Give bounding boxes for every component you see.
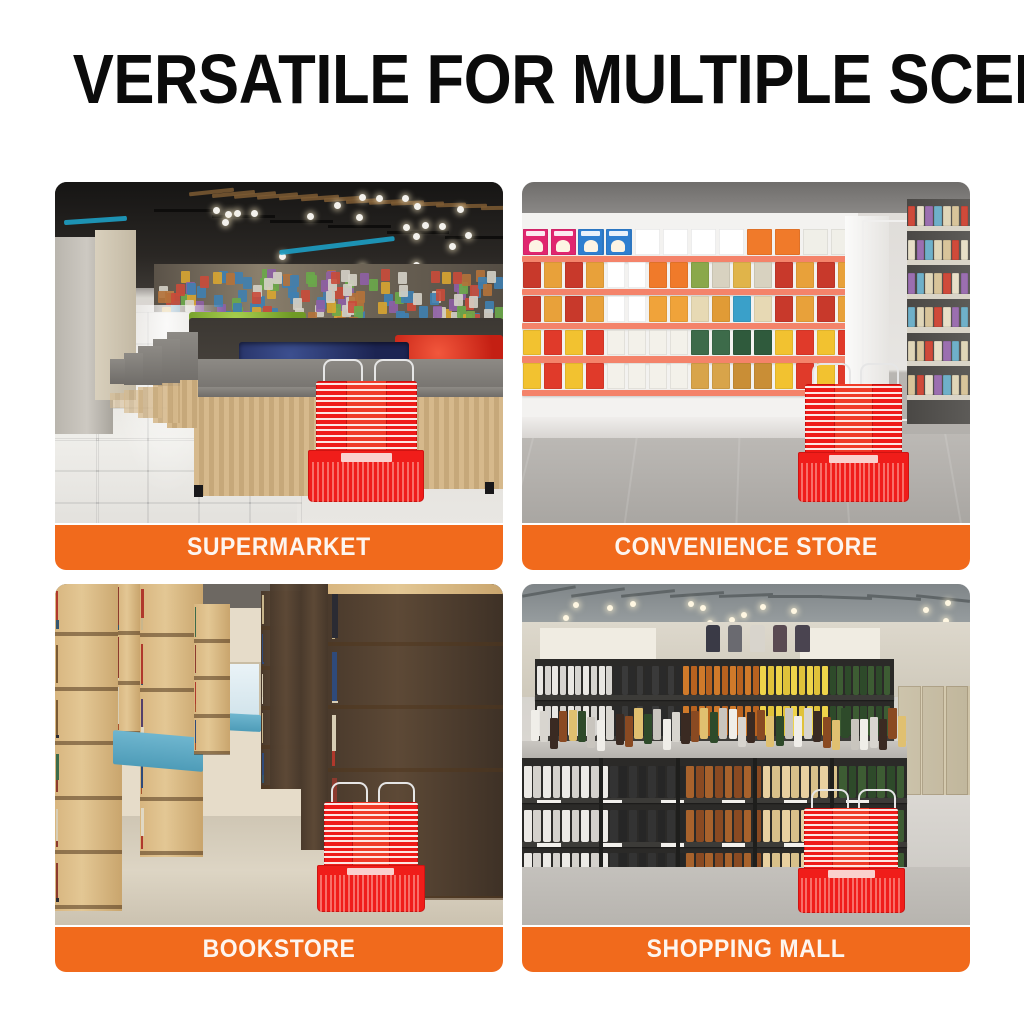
shelf-bottle <box>696 810 704 842</box>
shelf-bottle <box>572 766 580 798</box>
shelf-bottle <box>524 810 532 842</box>
shelf-product <box>670 330 688 356</box>
shelf-bottle <box>763 766 771 798</box>
shelf-product <box>628 330 646 356</box>
shelf-product <box>952 307 960 327</box>
shelf-product <box>607 262 625 288</box>
mannequin <box>750 625 764 652</box>
shelf-product <box>607 296 625 322</box>
shelf-bottle <box>619 810 627 842</box>
shelf-bottle <box>737 666 743 695</box>
shelf-product <box>943 341 951 361</box>
shelf-bottle <box>791 666 797 695</box>
shelf-product <box>917 206 925 226</box>
counter-product <box>823 717 831 748</box>
shelf-product <box>803 229 828 255</box>
shelf-bottle <box>660 666 666 695</box>
shelf-bottle <box>581 810 589 842</box>
shelf-bottle <box>553 810 561 842</box>
shelf-bottle <box>744 810 752 842</box>
shelf-product <box>670 363 688 389</box>
shelf <box>907 260 970 265</box>
shelf-bottle <box>822 666 828 695</box>
shelf-bottle <box>560 666 566 695</box>
scene-card-bookstore: BOOKSTORE <box>55 584 503 972</box>
shelf-product <box>961 240 969 260</box>
shelf-product <box>586 296 604 322</box>
counter-product <box>729 709 737 740</box>
ceiling-spotlight <box>402 195 409 202</box>
shelf-bottle <box>683 666 689 695</box>
shelf-bottle <box>639 766 647 798</box>
scene-caption-label: SHOPPING MALL <box>647 935 846 964</box>
page-title: VERSATILE FOR MULTIPLE SCENES <box>0 44 1024 114</box>
counter-product <box>559 711 567 742</box>
case-foot <box>485 482 494 494</box>
shelf-bottle <box>581 766 589 798</box>
shelf-product <box>712 296 730 322</box>
counter-product <box>691 711 699 742</box>
shelf-bottle <box>807 666 813 695</box>
shelf-product <box>961 375 969 395</box>
shelf-bottle <box>699 666 705 695</box>
counter-product <box>625 716 633 747</box>
counter-product <box>616 714 624 745</box>
shelf-bottle <box>645 666 651 695</box>
ceiling-light <box>607 605 613 611</box>
shelf-product <box>917 375 925 395</box>
shelf-bottle <box>725 766 733 798</box>
shelf-product <box>691 363 709 389</box>
shelf-product <box>775 262 793 288</box>
page-title-text: VERSATILE FOR MULTIPLE SCENES <box>73 44 1024 114</box>
shelf-bottle <box>768 666 774 695</box>
shelf-product <box>943 375 951 395</box>
shelf-product <box>691 229 716 255</box>
shelf-product <box>961 341 969 361</box>
shelf-product <box>952 341 960 361</box>
shelf-product <box>628 296 646 322</box>
shelf-product <box>733 296 751 322</box>
counter-product <box>851 719 859 750</box>
counter-product <box>832 720 840 751</box>
shelf-product <box>565 296 583 322</box>
counter-product <box>569 710 577 741</box>
scene-photo-bookstore <box>55 584 503 925</box>
shelf-product <box>917 307 925 327</box>
basket-brand-plate <box>828 870 875 877</box>
shelf-bottle <box>652 666 658 695</box>
shelf-bottle <box>533 766 541 798</box>
shelf-product <box>796 330 814 356</box>
shelf-bottle <box>837 666 843 695</box>
shelf-bottle <box>696 766 704 798</box>
shelf-product <box>523 296 541 322</box>
shelf-product <box>917 341 925 361</box>
shelf-product <box>565 363 583 389</box>
shelf-product <box>649 330 667 356</box>
shelf-bottle <box>706 666 712 695</box>
ceiling-light <box>760 604 766 610</box>
shelf-bottle <box>884 666 890 695</box>
shelf-edge <box>522 323 858 329</box>
ceiling-light <box>688 601 694 607</box>
counter-product <box>738 717 746 748</box>
shelf-product <box>544 363 562 389</box>
shelf-product <box>775 296 793 322</box>
scene-photo-shopping-mall <box>522 584 970 925</box>
shelf-product <box>733 330 751 356</box>
counter-product <box>804 708 812 739</box>
ceiling-light <box>945 600 951 606</box>
shelf-product <box>925 307 933 327</box>
ceiling-spotlight <box>413 233 420 240</box>
counter-product <box>860 719 868 750</box>
shelf-bottle <box>830 666 836 695</box>
shelf-bottle <box>524 766 532 798</box>
shelf-product <box>925 273 933 293</box>
shelf-product <box>670 262 688 288</box>
counter-product <box>578 711 586 742</box>
shelf-bottle <box>575 666 581 695</box>
shelf-product <box>952 273 960 293</box>
shelf-bottle <box>772 810 780 842</box>
scene-caption-label: CONVENIENCE STORE <box>614 533 877 562</box>
shelf-bottle <box>668 666 674 695</box>
shelf-bottle <box>722 666 728 695</box>
shelf-bottle <box>533 810 541 842</box>
shelf-bottle <box>583 666 589 695</box>
shelf-edge <box>522 289 858 295</box>
shelf-bottle <box>845 666 851 695</box>
ceiling-spotlight <box>213 207 220 214</box>
shelf-bottle <box>606 666 612 695</box>
counter-product <box>757 710 765 741</box>
shelf-bottle <box>667 810 675 842</box>
counter-product <box>587 717 595 748</box>
shelf-product <box>952 206 960 226</box>
shelf-product <box>607 363 625 389</box>
mannequin <box>773 625 787 652</box>
shelf-bottle <box>734 810 742 842</box>
shelf-product <box>719 229 744 255</box>
bookshelf-left-upper <box>118 584 140 734</box>
scene-caption-label: SUPERMARKET <box>187 533 371 562</box>
shelf-bottle <box>753 666 759 695</box>
bookshelf-far-left <box>194 604 230 754</box>
shelf-bottle <box>776 666 782 695</box>
shelf-bottle <box>860 666 866 695</box>
shelf-bottle <box>782 766 790 798</box>
shelf-product <box>649 262 667 288</box>
basket-trolley-frame <box>306 482 427 517</box>
ceiling-spotlight <box>334 202 341 209</box>
shelf-product <box>649 296 667 322</box>
shelf-product <box>934 240 942 260</box>
shelf-product <box>663 229 688 255</box>
shelf-bottle <box>629 766 637 798</box>
counter-product <box>766 716 774 747</box>
shelf-bottle <box>760 666 766 695</box>
shelf-product <box>796 296 814 322</box>
shelf-product <box>952 375 960 395</box>
shelf-product <box>754 363 772 389</box>
shelf-bottle <box>715 766 723 798</box>
shelf-bottle <box>686 810 694 842</box>
shelf-bottle <box>610 766 618 798</box>
scene-card-supermarket: SUPERMARKET <box>55 182 503 570</box>
product-basket-stack <box>306 359 427 516</box>
ceiling-light <box>700 605 706 611</box>
counter-product <box>681 713 689 744</box>
counter-product <box>700 708 708 739</box>
product-basket-stack <box>315 782 427 925</box>
ceiling-spotlight <box>356 214 363 221</box>
marketing-image: VERSATILE FOR MULTIPLE SCENES SUPERMARKE… <box>0 0 1024 1024</box>
shelf <box>907 226 970 231</box>
shelf-product <box>747 229 772 255</box>
shelf-bottle <box>763 810 771 842</box>
ceiling-spotlight <box>222 219 229 226</box>
shelf-bottle <box>552 666 558 695</box>
scene-caption-supermarket: SUPERMARKET <box>55 525 503 570</box>
basket-trolley-frame <box>795 482 911 516</box>
ceiling <box>522 182 970 213</box>
shelf-bottle <box>658 810 666 842</box>
shelf-bottle <box>568 666 574 695</box>
shelf-product <box>934 307 942 327</box>
shelf-product <box>586 330 604 356</box>
scene-photo-supermarket <box>55 182 503 523</box>
shelf-bottle <box>572 810 580 842</box>
mannequin <box>706 625 720 652</box>
scene-caption-convenience-store: CONVENIENCE STORE <box>522 525 970 570</box>
ceiling-light <box>573 602 579 608</box>
counter-product <box>870 717 878 748</box>
right-wall-shelving <box>907 199 970 424</box>
price-label <box>661 843 684 846</box>
counter-product <box>794 716 802 747</box>
shelf-product <box>934 206 942 226</box>
shelf-product <box>691 330 709 356</box>
ceiling-light <box>563 615 569 621</box>
shelf-bottle <box>614 666 620 695</box>
shelf-bottle <box>744 766 752 798</box>
shelf-bottle <box>591 810 599 842</box>
shelf-product <box>523 262 541 288</box>
shelf-bottle <box>648 810 656 842</box>
price-label <box>537 800 560 803</box>
shelf-product <box>691 296 709 322</box>
mannequin <box>795 625 809 652</box>
product-basket-stack <box>795 789 907 925</box>
shelf-bottle <box>691 666 697 695</box>
shelf-product <box>544 330 562 356</box>
counter-product <box>531 710 539 741</box>
shelf-bottle <box>686 766 694 798</box>
scene-caption-label: BOOKSTORE <box>203 935 356 964</box>
shelf-bottle <box>591 766 599 798</box>
shelf-product <box>908 206 916 226</box>
ceiling-spotlight <box>457 206 464 213</box>
shelf-product <box>961 206 969 226</box>
shelf-bottle <box>705 766 713 798</box>
shelf-product <box>775 330 793 356</box>
counter-product <box>785 708 793 739</box>
counter-product <box>747 712 755 743</box>
ceiling-light <box>923 607 929 613</box>
price-label <box>722 800 745 803</box>
shelf-product <box>754 296 772 322</box>
counter-product <box>898 716 906 747</box>
shelf-bottle <box>705 810 713 842</box>
basket-trolley-frame <box>315 893 427 925</box>
counter-product <box>672 712 680 743</box>
shelf-bottle <box>876 666 882 695</box>
shelf-product <box>961 307 969 327</box>
shelf-product <box>934 273 942 293</box>
counter-product <box>879 719 887 750</box>
shelf-product <box>691 262 709 288</box>
shelf-product <box>565 262 583 288</box>
shelf-product <box>586 262 604 288</box>
shelf-product <box>712 330 730 356</box>
shelf-bottle <box>543 810 551 842</box>
shelf-product <box>733 262 751 288</box>
shelf-product <box>917 273 925 293</box>
counter-product <box>841 708 849 739</box>
shelf-product <box>712 363 730 389</box>
shelf-product <box>796 262 814 288</box>
shelf-product <box>943 307 951 327</box>
counter-product <box>719 708 727 739</box>
shelf-bottle <box>734 766 742 798</box>
shelf-bottle <box>853 666 859 695</box>
shelf-bottle <box>730 666 736 695</box>
shelf-product <box>649 363 667 389</box>
shelf-bottle <box>868 666 874 695</box>
shelf-product <box>544 296 562 322</box>
product-basket-stack <box>795 363 911 516</box>
counter-product <box>597 720 605 751</box>
counter-product <box>813 711 821 742</box>
case-foot <box>194 485 203 497</box>
ceiling-light <box>630 601 636 607</box>
counter-product <box>540 711 548 742</box>
shelf-bottle <box>619 766 627 798</box>
shelf-bottle <box>714 666 720 695</box>
scene-grid: SUPERMARKET CONVENIENCE STORE BOOKSTORE <box>55 182 970 972</box>
shelf-product <box>817 330 835 356</box>
bookshelf-right-top-trim <box>328 584 503 594</box>
counter-product <box>776 716 784 747</box>
shelf-bottle <box>782 810 790 842</box>
shelf-bottle <box>543 766 551 798</box>
shelf-product <box>817 262 835 288</box>
side-cabinets <box>898 686 970 795</box>
shelf-product <box>754 330 772 356</box>
shelf-bottle <box>610 810 618 842</box>
shelf-bottle <box>629 666 635 695</box>
shelf-bottle <box>591 666 597 695</box>
shelf-product <box>961 273 969 293</box>
ceiling-spotlight <box>251 210 258 217</box>
shelf-edge <box>522 256 858 262</box>
shelf-bottle <box>562 766 570 798</box>
shelf <box>907 294 970 299</box>
shelf-product <box>908 273 916 293</box>
shelf-product <box>934 375 942 395</box>
shelf-bottle <box>545 666 551 695</box>
shelf-product <box>775 363 793 389</box>
shelf-bottle <box>676 666 682 695</box>
ceiling-spotlight <box>449 243 456 250</box>
shelf-product <box>908 341 916 361</box>
shelf-product <box>544 262 562 288</box>
price-label <box>661 800 684 803</box>
shelf-product <box>908 307 916 327</box>
counter-product <box>888 708 896 739</box>
mannequin <box>728 625 742 652</box>
shelf-bottle <box>639 810 647 842</box>
ceiling-spotlight <box>465 232 472 239</box>
back-wall-panel <box>800 628 881 662</box>
shelf-bottle <box>814 666 820 695</box>
scene-card-convenience-store: CONVENIENCE STORE <box>522 182 970 570</box>
shelf-product <box>934 341 942 361</box>
shelf-bottle <box>599 666 605 695</box>
shelf-product <box>952 240 960 260</box>
price-label <box>722 843 745 846</box>
shelf-bottle <box>667 766 675 798</box>
counter-product <box>634 708 642 739</box>
ceiling-light <box>741 612 747 618</box>
shelf <box>535 695 893 700</box>
product-cupcakes-box <box>578 229 603 255</box>
shelf-bottle <box>537 666 543 695</box>
shelf-product <box>607 330 625 356</box>
product-cupcakes-box <box>523 229 548 255</box>
counter-product <box>653 709 661 740</box>
counter-product <box>606 710 614 741</box>
counter-product <box>663 719 671 750</box>
shelf-product <box>733 363 751 389</box>
scene-card-shopping-mall: SHOPPING MALL <box>522 584 970 972</box>
ceiling-spotlight <box>234 210 241 217</box>
shelf-product <box>628 262 646 288</box>
shelf-product <box>925 341 933 361</box>
ceiling-spotlight <box>422 222 429 229</box>
shelf-product <box>943 273 951 293</box>
product-cupcakes-box <box>551 229 576 255</box>
shelf-bottle <box>772 766 780 798</box>
shelf-product <box>565 330 583 356</box>
shelf-product <box>925 375 933 395</box>
shelf <box>907 395 970 400</box>
basket-brand-plate <box>347 868 394 876</box>
counter-product <box>644 714 652 745</box>
back-wall-panel <box>540 628 656 662</box>
counter-product <box>710 712 718 743</box>
shelf-product <box>586 363 604 389</box>
ceiling-spotlight <box>414 203 421 210</box>
shelf <box>907 327 970 332</box>
shelf-product <box>670 296 688 322</box>
shelf-bottle <box>562 810 570 842</box>
shelf-bottle <box>725 810 733 842</box>
shelf-product <box>943 206 951 226</box>
shelf-product <box>754 262 772 288</box>
